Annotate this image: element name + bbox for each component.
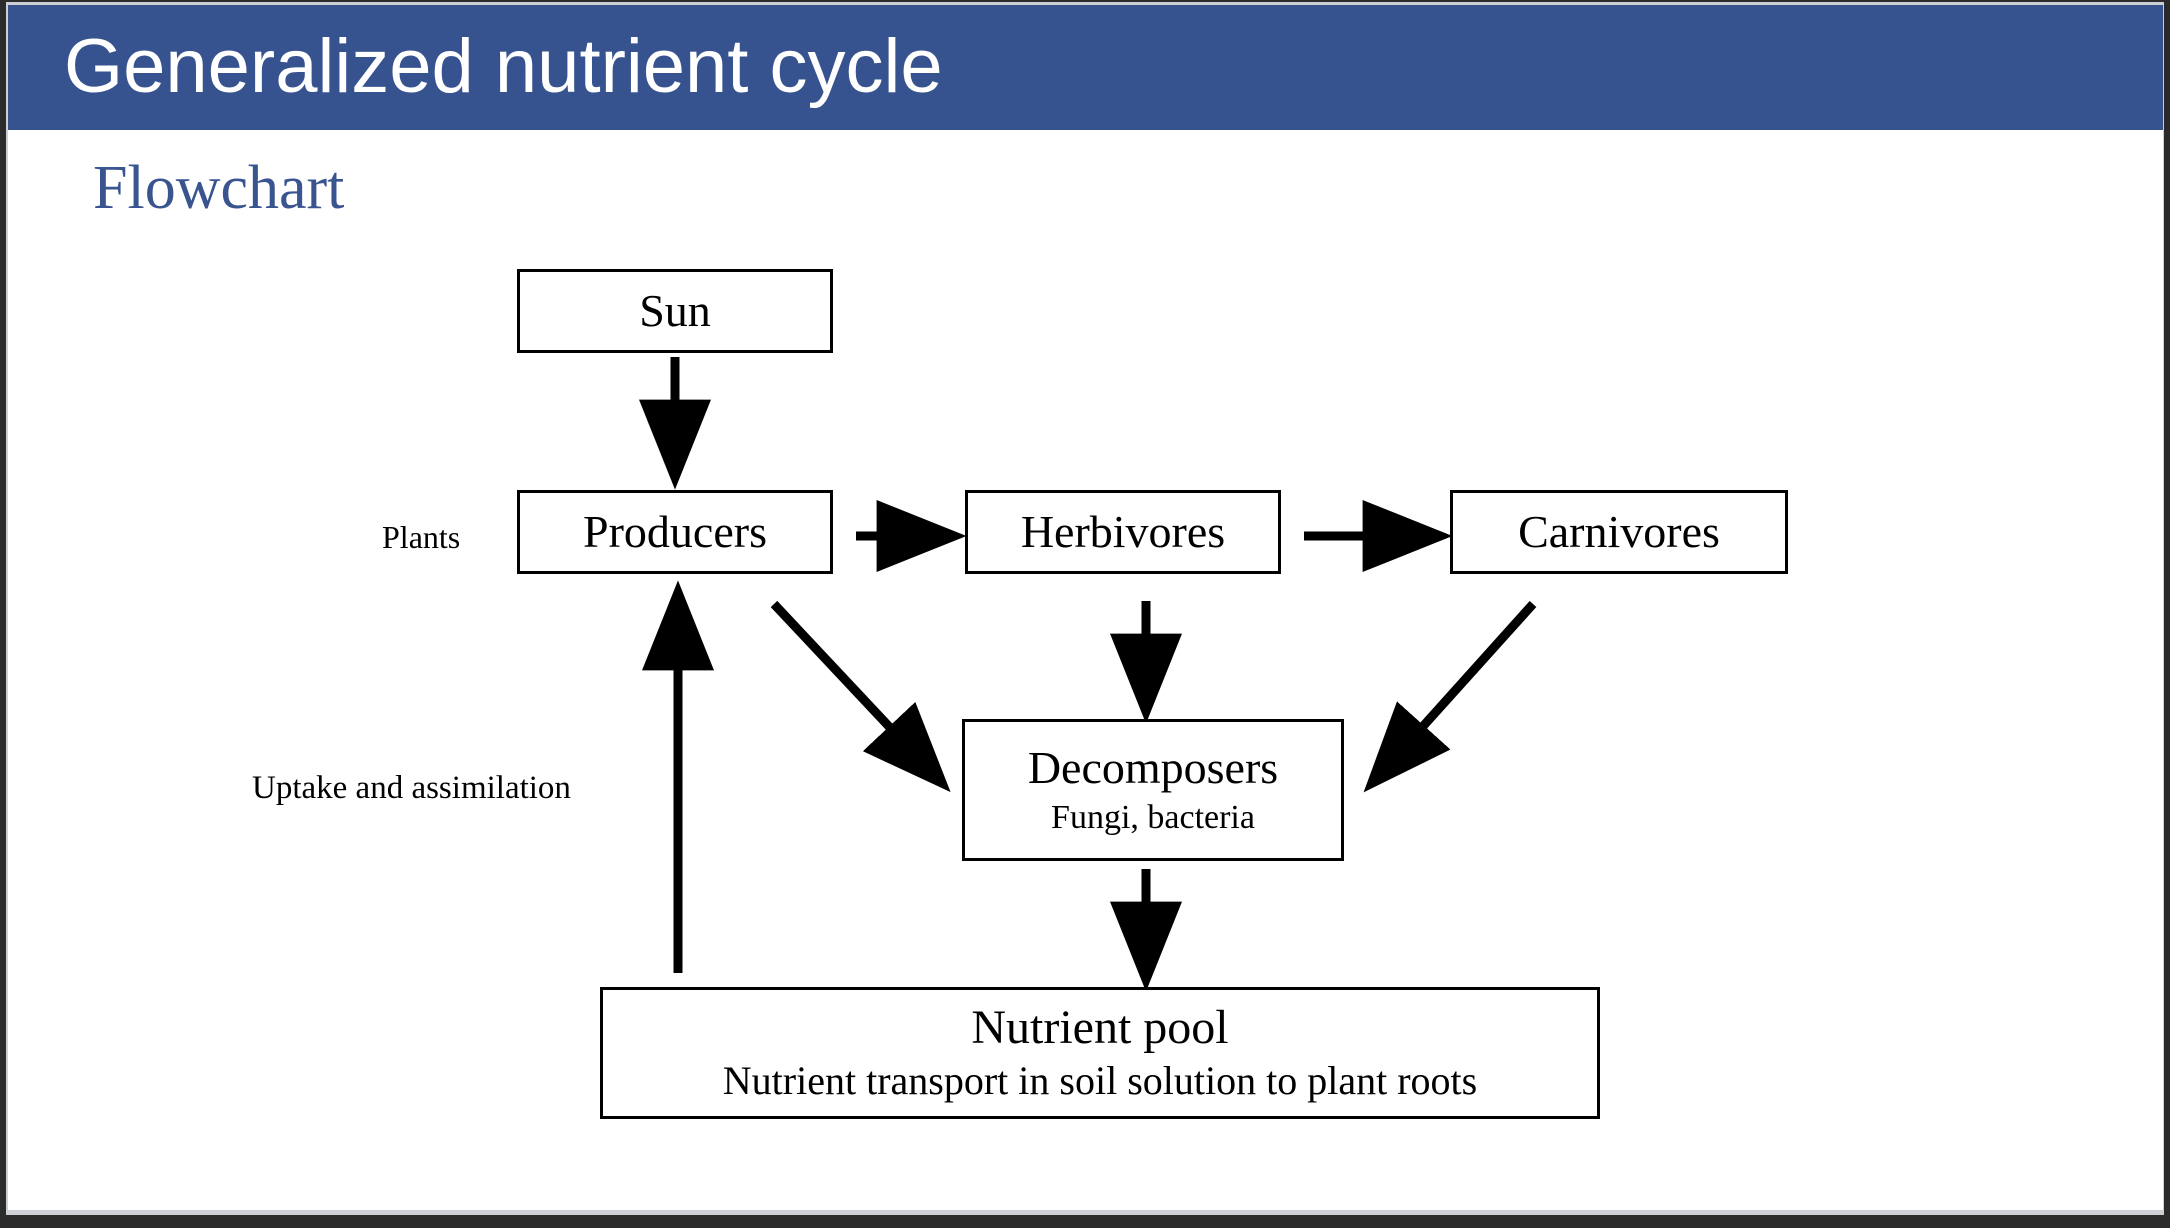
- screenshot-frame: Generalized nutrient cycle Flowchart: [0, 0, 2170, 1228]
- node-decomposers-sublabel: Fungi, bacteria: [1051, 796, 1255, 840]
- edge-producers-to-decomposers: [774, 604, 942, 783]
- node-herbivores-label: Herbivores: [1021, 506, 1225, 558]
- node-sun-label: Sun: [639, 285, 711, 337]
- node-nutrient-pool-sublabel: Nutrient transport in soil solution to p…: [723, 1056, 1477, 1106]
- node-carnivores[interactable]: Carnivores: [1450, 490, 1788, 574]
- flowchart: Sun Producers Herbivores Carnivores Deco…: [8, 5, 2163, 1210]
- edge-carnivores-to-decomposers: [1372, 604, 1533, 783]
- node-nutrient-pool[interactable]: Nutrient pool Nutrient transport in soil…: [600, 987, 1600, 1119]
- node-nutrient-pool-label: Nutrient pool: [971, 1000, 1228, 1056]
- label-uptake-and-assimilation: Uptake and assimilation: [252, 767, 571, 809]
- node-carnivores-label: Carnivores: [1518, 506, 1720, 558]
- node-sun[interactable]: Sun: [517, 269, 833, 353]
- label-plants: Plants: [382, 517, 460, 557]
- node-producers[interactable]: Producers: [517, 490, 833, 574]
- node-decomposers-label: Decomposers: [1028, 740, 1278, 796]
- node-decomposers[interactable]: Decomposers Fungi, bacteria: [962, 719, 1344, 861]
- slide-canvas: Generalized nutrient cycle Flowchart: [8, 5, 2163, 1210]
- node-producers-label: Producers: [583, 506, 767, 558]
- node-herbivores[interactable]: Herbivores: [965, 490, 1281, 574]
